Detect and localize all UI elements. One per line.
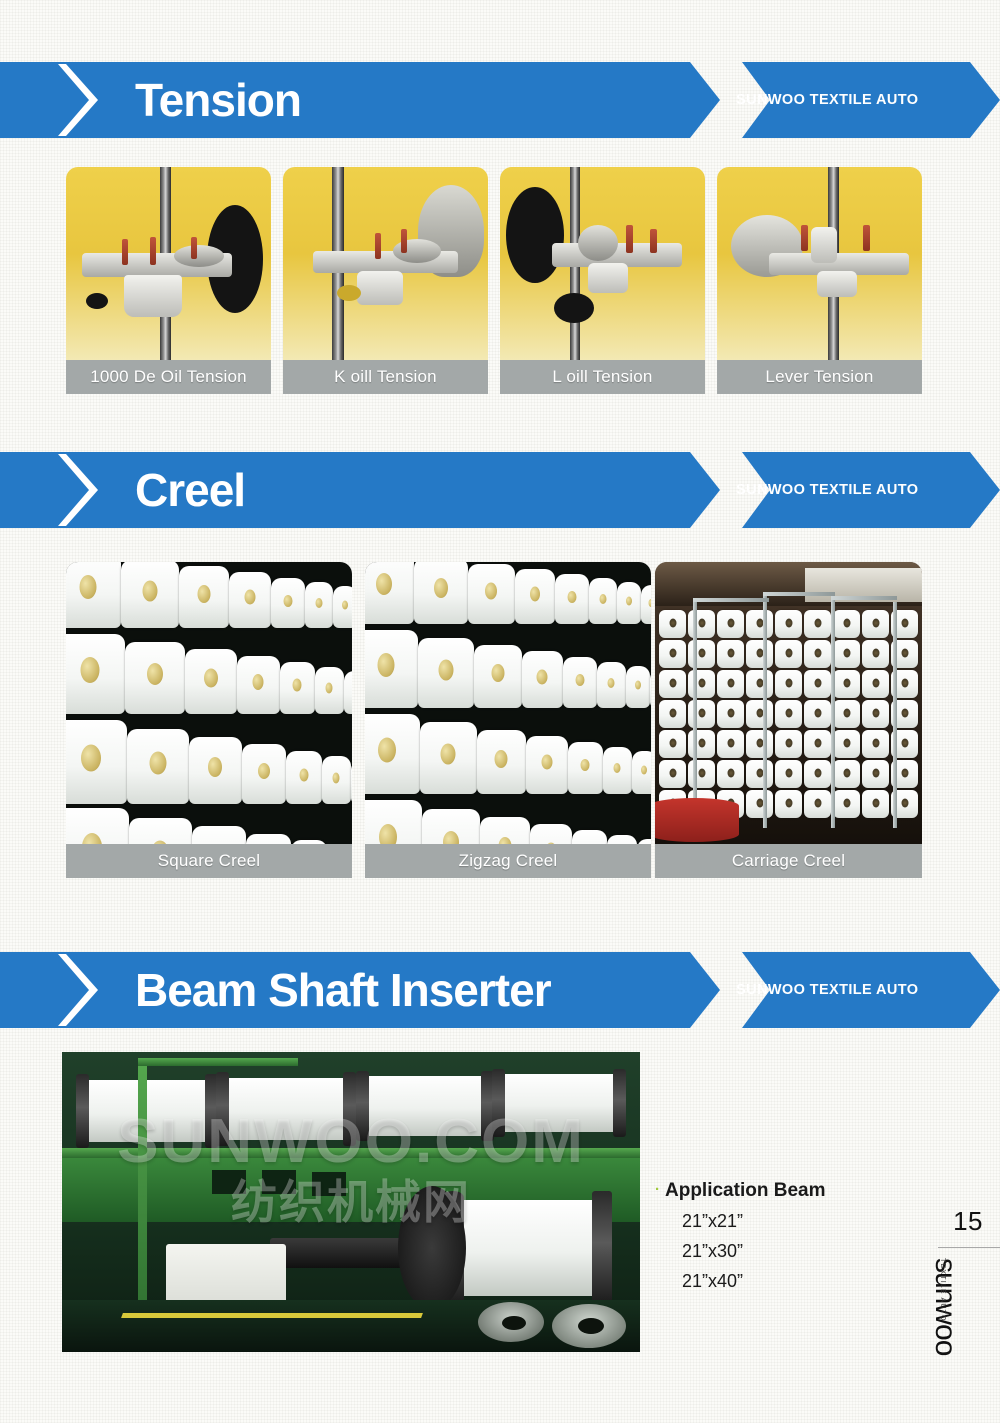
product-photo: [717, 167, 922, 360]
product-card-tension-1[interactable]: 1000 De Oil Tension: [66, 167, 271, 394]
product-caption: K oill Tension: [283, 360, 488, 394]
product-caption: Square Creel: [66, 844, 352, 878]
product-caption: Lever Tension: [717, 360, 922, 394]
brand-label-creel: SUNWOO TEXTILE AUTO: [736, 482, 918, 498]
product-card-creel-2[interactable]: Zigzag Creel: [365, 562, 651, 878]
spec-value: 21”x30”: [655, 1241, 905, 1262]
page-number: 15: [953, 1206, 983, 1237]
beam-shaft-photo: SUNWOO.COM 纺织机械网: [62, 1052, 640, 1352]
section-title-beam-shaft-inserter: Beam Shaft Inserter: [135, 967, 551, 1013]
product-card-tension-2[interactable]: K oill Tension: [283, 167, 488, 394]
footer-divider: [938, 1247, 1000, 1248]
product-photo: [655, 562, 922, 844]
spec-value: 21”x40”: [655, 1271, 905, 1292]
spec-value: 21”x21”: [655, 1211, 905, 1232]
section-header-tension: Tension SUNWOO TEXTILE AUTO: [0, 62, 1000, 138]
section-header-creel: Creel SUNWOO TEXTILE AUTO: [0, 452, 1000, 528]
product-photo: [283, 167, 488, 360]
section-header-beam-shaft-inserter: Beam Shaft Inserter SUNWOO TEXTILE AUTO: [0, 952, 1000, 1028]
brand-label-tension: SUNWOO TEXTILE AUTO: [736, 92, 918, 108]
band-bar-left: [0, 452, 720, 528]
footer-brand-subtitle: TEXTILE AUTO: [939, 1258, 946, 1322]
product-caption: L oill Tension: [500, 360, 705, 394]
product-card-tension-4[interactable]: Lever Tension: [717, 167, 922, 394]
spec-heading: ·Application Beam: [655, 1180, 905, 1202]
catalog-page: Tension SUNWOO TEXTILE AUTO 1000 De Oil …: [0, 0, 1000, 1423]
band-bar-left: [0, 62, 720, 138]
product-photo: [66, 167, 271, 360]
brand-label-beam: SUNWOO TEXTILE AUTO: [736, 982, 918, 998]
product-card-tension-3[interactable]: L oill Tension: [500, 167, 705, 394]
product-photo: [500, 167, 705, 360]
product-caption: Zigzag Creel: [365, 844, 651, 878]
application-beam-spec: ·Application Beam 21”x21” 21”x30” 21”x40…: [655, 1180, 905, 1292]
product-caption: Carriage Creel: [655, 844, 922, 878]
product-photo: [66, 562, 352, 844]
product-card-creel-1[interactable]: Square Creel: [66, 562, 352, 878]
bullet-icon: ·: [655, 1181, 660, 1198]
section-title-creel: Creel: [135, 467, 245, 513]
section-title-tension: Tension: [135, 77, 301, 123]
product-caption: 1000 De Oil Tension: [66, 360, 271, 394]
product-card-creel-3[interactable]: Carriage Creel: [655, 562, 922, 878]
footer-brand: sunwoo TEXTILE AUTO: [938, 1258, 998, 1368]
spec-heading-text: Application Beam: [665, 1180, 825, 1201]
product-photo: [365, 562, 651, 844]
